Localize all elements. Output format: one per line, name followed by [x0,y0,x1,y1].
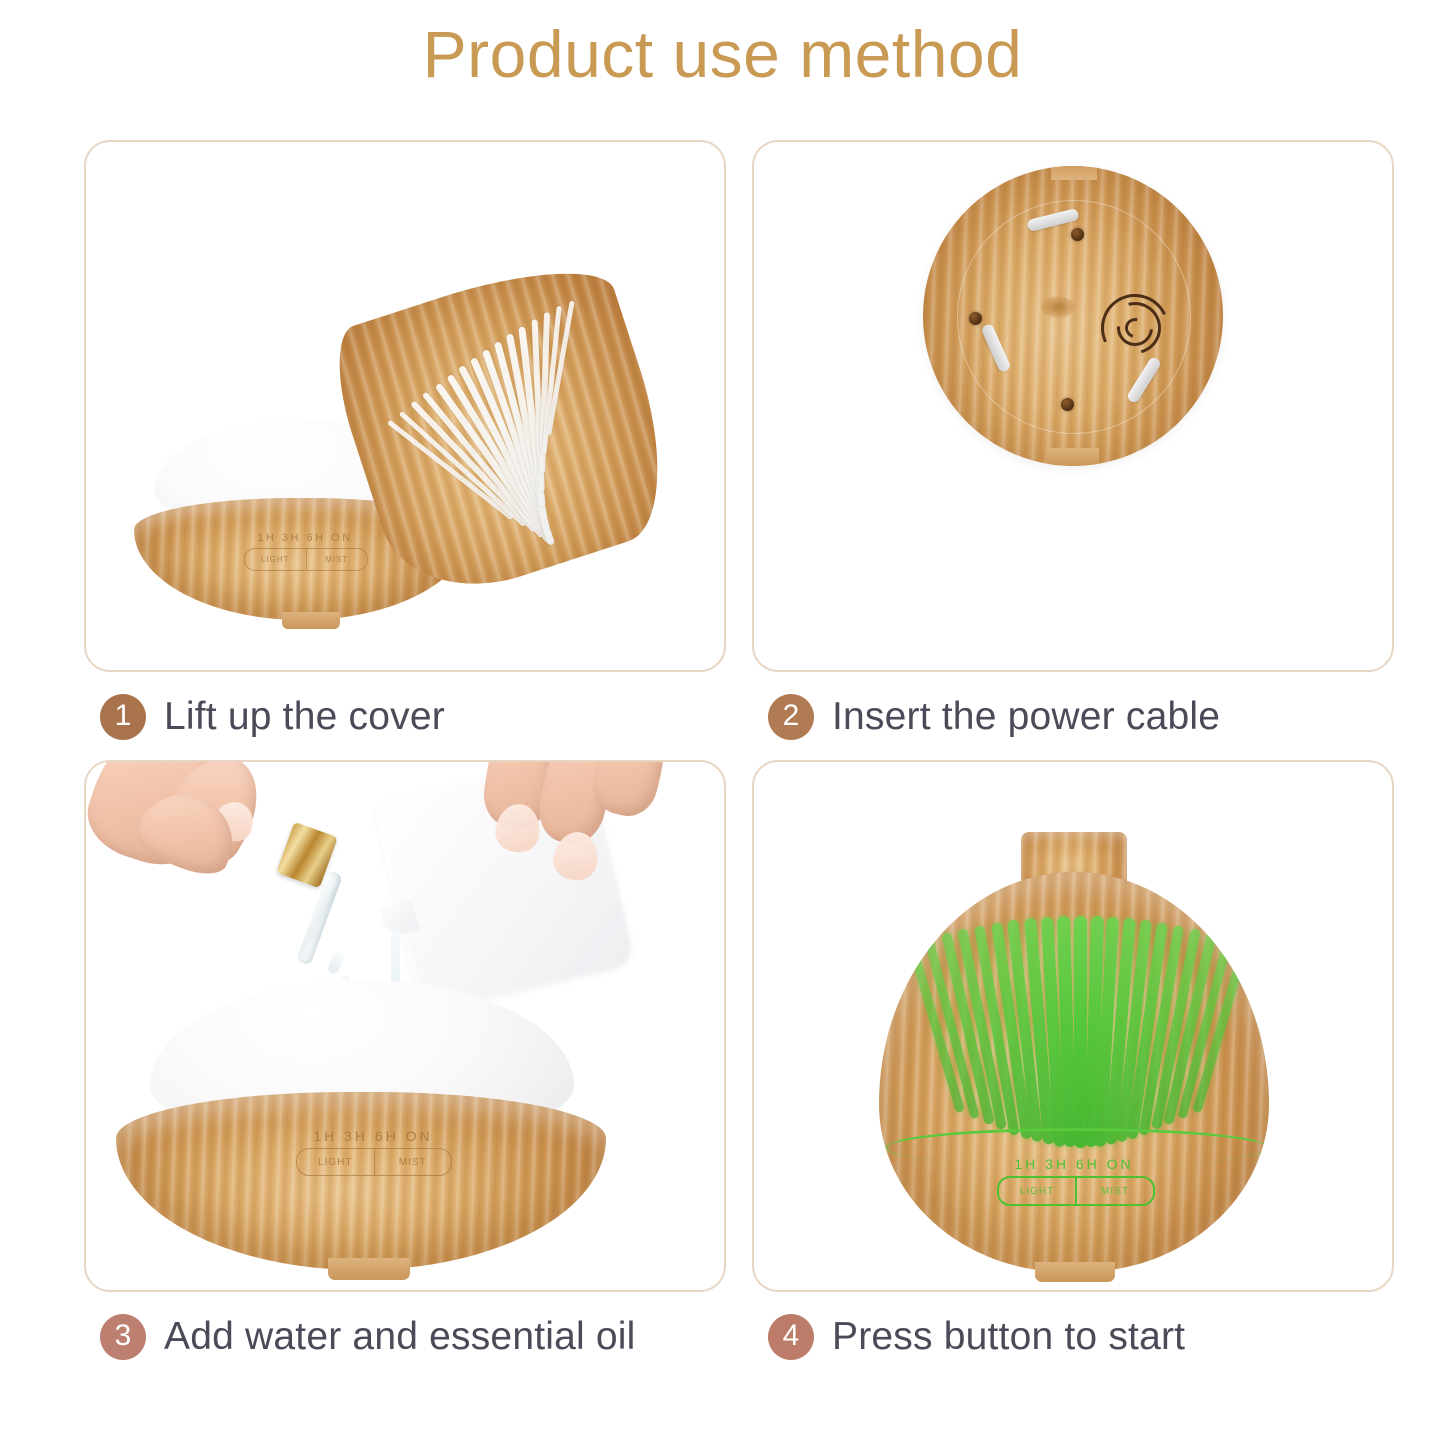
screw [969,312,982,325]
step-1-caption: 1 Lift up the cover [84,672,722,762]
step-2-image-card [752,140,1394,672]
step-3: 1H 3H 6H ON LIGHT MIST 3 Add water and e… [84,760,722,1382]
step-2-label: Insert the power cable [832,695,1220,739]
step-4-image-card: 1H 3H 6H ON LIGHT MIST [752,760,1394,1292]
step-1-badge: 1 [100,694,146,740]
page-title: Product use method [0,16,1445,92]
dropper-tip [327,951,345,975]
cable-notch-top [1051,166,1097,180]
fan-vent-icon [1101,294,1169,362]
step-3-badge: 3 [100,1314,146,1360]
step-4-caption: 4 Press button to start [752,1292,1390,1382]
diffuser-wood-body [116,1092,606,1270]
product-instruction-infographic: Product use method 1H 3H 6H ON LIGHT [0,0,1445,1445]
timer-labels: 1H 3H 6H ON [230,532,380,544]
assembled-diffuser: 1H 3H 6H ON LIGHT MIST [879,832,1269,1272]
step-3-caption: 3 Add water and essential oil [84,1292,722,1382]
steps-grid: 1H 3H 6H ON LIGHT MIST [84,140,1369,1410]
step-2-caption: 2 Insert the power cable [752,672,1390,762]
mist-button[interactable]: MIST [375,1149,452,1175]
timer-labels: 1H 3H 6H ON [979,1156,1169,1172]
screw [1061,398,1074,411]
timer-labels: 1H 3H 6H ON [278,1128,468,1144]
power-cable-port [1047,448,1099,466]
diffuser-foot [1035,1262,1115,1282]
illustration-press-button: 1H 3H 6H ON LIGHT MIST [754,762,1392,1290]
step-4-label: Press button to start [832,1315,1185,1359]
light-button[interactable]: LIGHT [999,1178,1077,1204]
step-4: 1H 3H 6H ON LIGHT MIST 4 Press butto [752,760,1390,1382]
mist-button[interactable]: MIST [1077,1178,1153,1204]
step-3-label: Add water and essential oil [164,1315,636,1359]
led-vent-slots [879,872,1269,1172]
step-2-badge: 2 [768,694,814,740]
step-3-image-card: 1H 3H 6H ON LIGHT MIST [84,760,726,1292]
diffuser-foot [328,1258,410,1280]
screw [1071,228,1084,241]
diffuser-body: 1H 3H 6H ON LIGHT MIST [879,872,1269,1272]
illustration-add-water-oil: 1H 3H 6H ON LIGHT MIST [86,762,724,1290]
control-panel: 1H 3H 6H ON LIGHT MIST [979,1156,1169,1206]
mist-button[interactable]: MIST [307,549,368,570]
hand-with-cup [404,760,674,926]
control-buttons: LIGHT MIST [997,1176,1155,1206]
control-panel: 1H 3H 6H ON LIGHT MIST [230,532,380,572]
step-4-badge: 4 [768,1314,814,1360]
light-button[interactable]: LIGHT [245,549,307,570]
step-1-image-card: 1H 3H 6H ON LIGHT MIST [84,140,726,672]
control-buttons: LIGHT MIST [244,548,368,571]
step-1-label: Lift up the cover [164,695,445,739]
control-buttons: LIGHT MIST [296,1148,452,1176]
illustration-power-cable [754,142,1392,670]
step-1: 1H 3H 6H ON LIGHT MIST [84,140,722,762]
diffuser-foot [282,612,340,629]
step-2: 2 Insert the power cable [752,140,1390,762]
control-panel: 1H 3H 6H ON LIGHT MIST [278,1128,468,1178]
light-button[interactable]: LIGHT [297,1149,375,1175]
diffuser-bottom-view [923,166,1223,466]
illustration-lift-cover: 1H 3H 6H ON LIGHT MIST [86,142,724,670]
diffuser-base-open: 1H 3H 6H ON LIGHT MIST [116,980,606,1270]
